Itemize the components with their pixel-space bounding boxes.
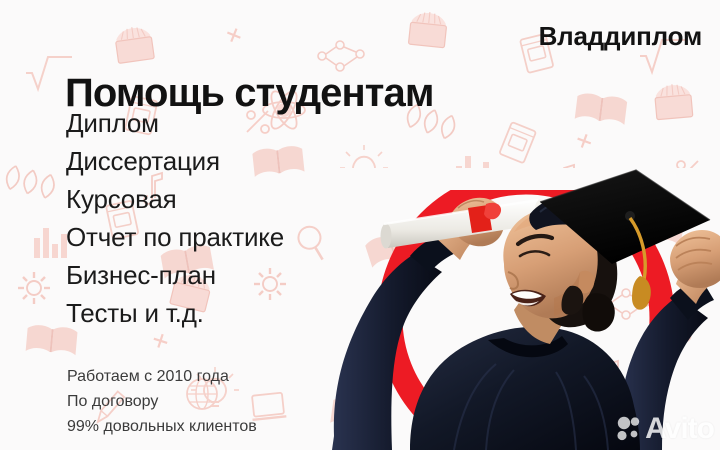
- fact-satisfaction: 99% довольных клиентов: [67, 414, 257, 439]
- list-item: Тесты и т.д.: [66, 294, 284, 332]
- list-item: Диплом: [66, 104, 284, 142]
- list-item: Отчет по практике: [66, 218, 284, 256]
- list-item: Бизнес-план: [66, 256, 284, 294]
- text-content: Владдиплом Помощь студентам Диплом Диссе…: [0, 0, 720, 450]
- list-item: Диссертация: [66, 142, 284, 180]
- fact-contract: По договору: [67, 389, 257, 414]
- advertisement-banner: Владдиплом Помощь студентам Диплом Диссе…: [0, 0, 720, 450]
- list-item: Курсовая: [66, 180, 284, 218]
- service-list: Диплом Диссертация Курсовая Отчет по пра…: [66, 104, 284, 332]
- fact-working-since: Работаем с 2010 года: [67, 364, 257, 389]
- brand-name: Владдиплом: [539, 21, 702, 52]
- trust-facts: Работаем с 2010 года По договору 99% дов…: [67, 364, 257, 439]
